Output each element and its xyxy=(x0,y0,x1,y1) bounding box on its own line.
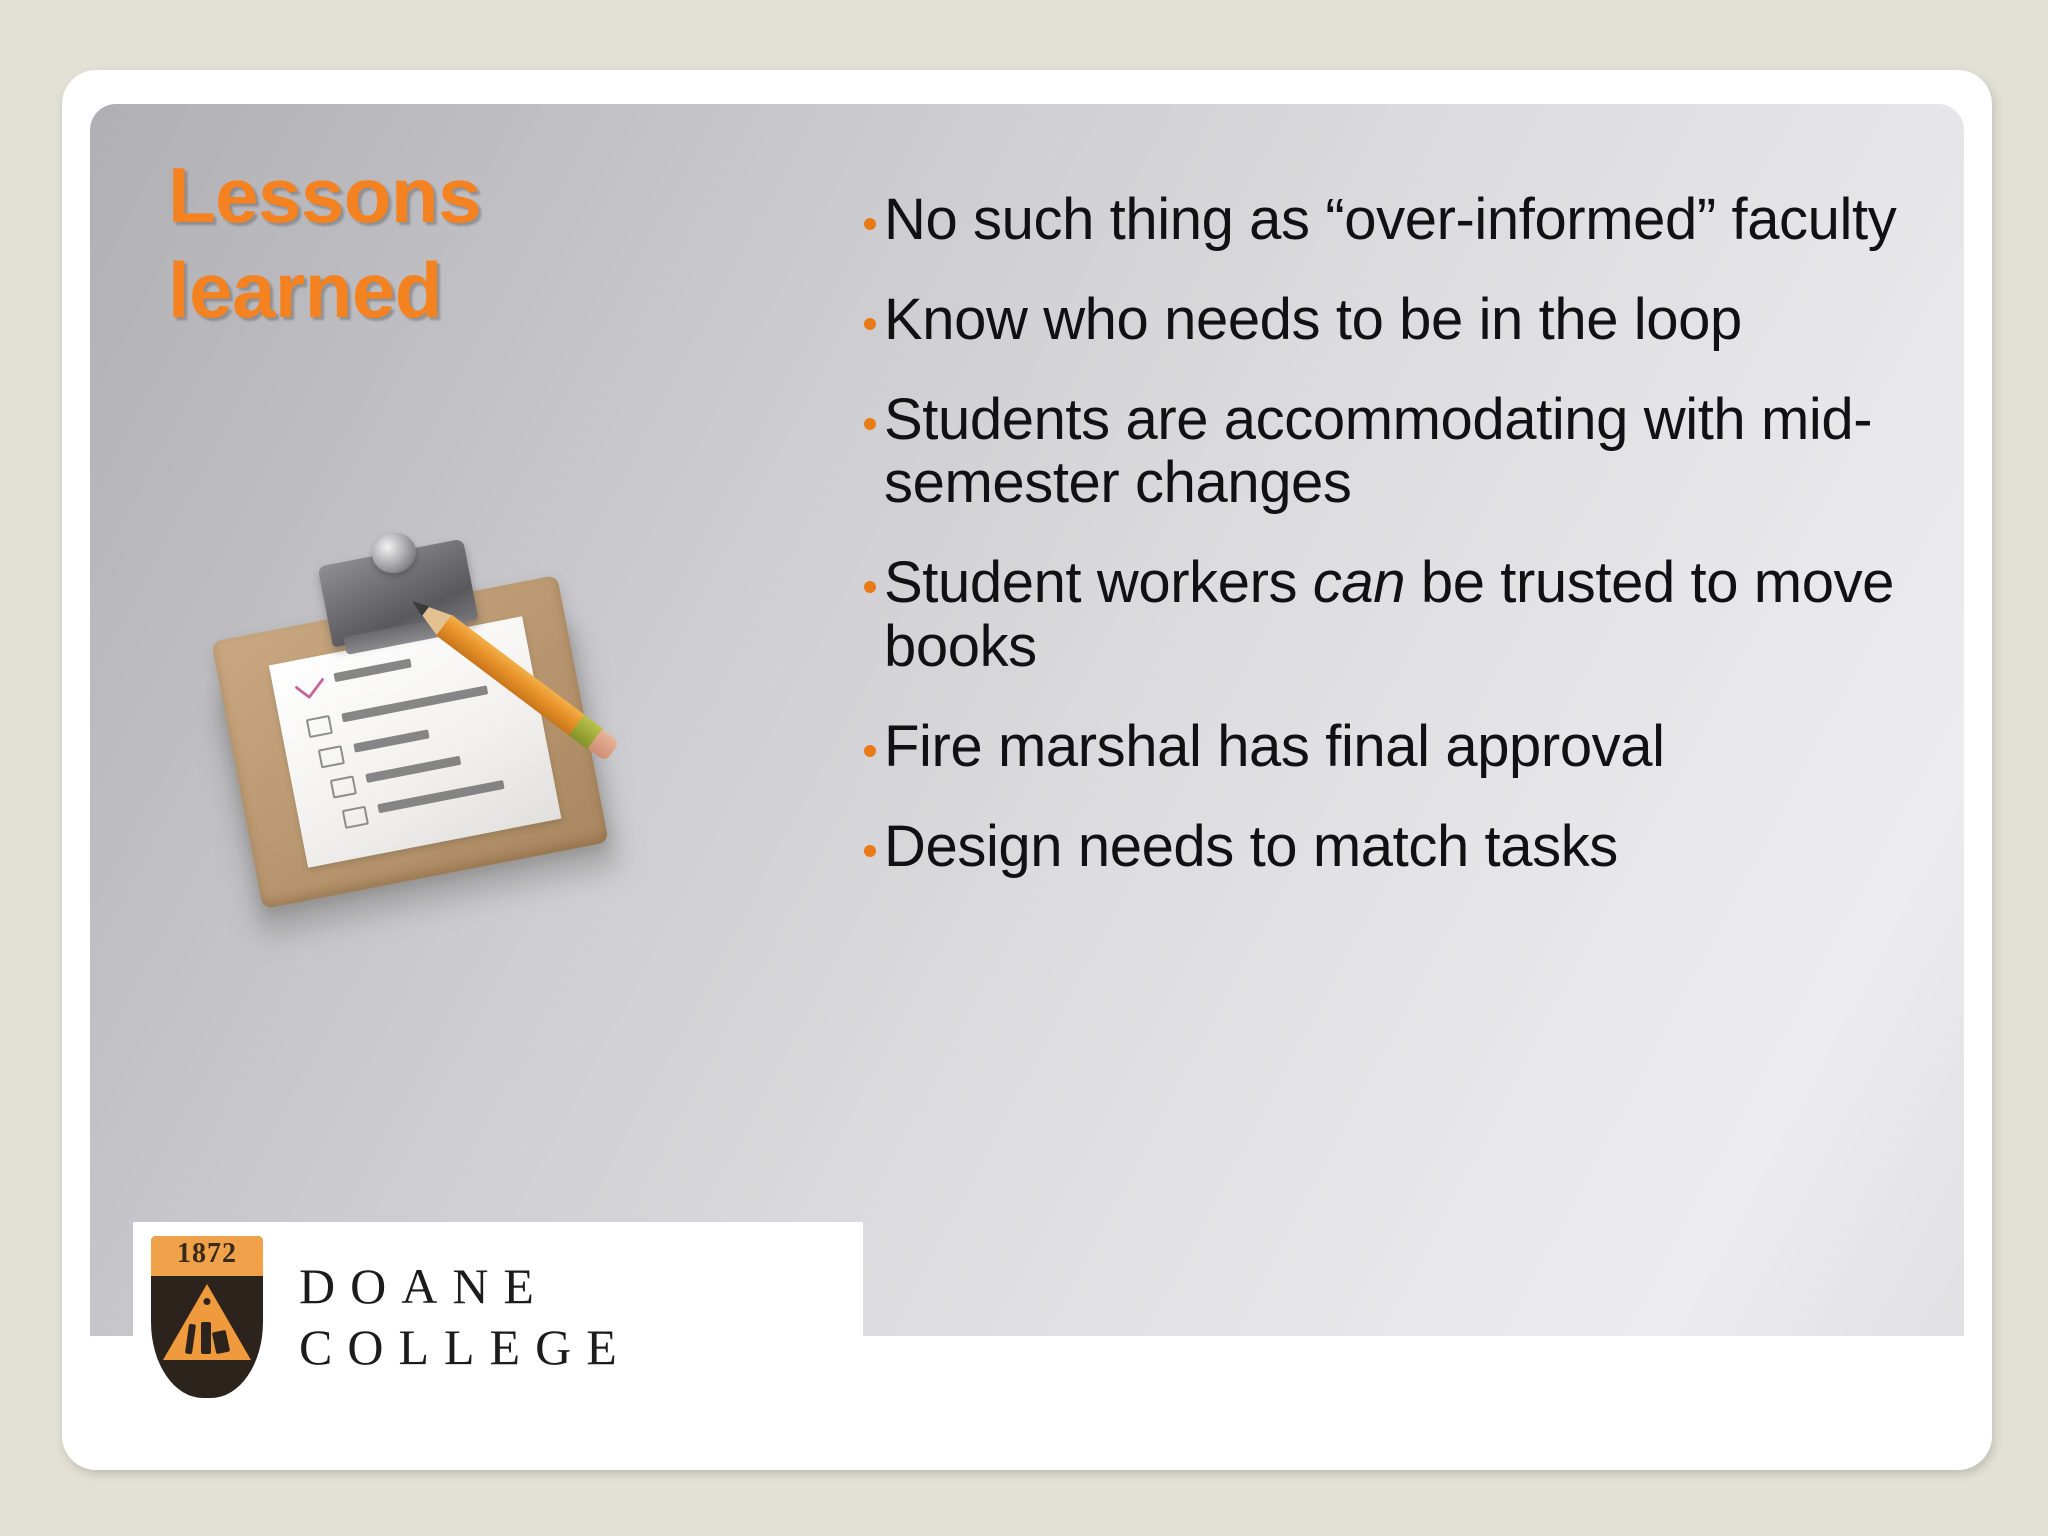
bullet-text-2: Know who needs to be in the loop xyxy=(884,287,1742,352)
bullet-text-1: No such thing as “over-informed” faculty xyxy=(884,187,1896,252)
clipboard-illustration xyxy=(196,528,696,968)
bullet-item-6: Design needs to match tasks xyxy=(862,815,1952,879)
checkbox-icon xyxy=(330,775,357,798)
bullet-dot-icon xyxy=(864,581,876,593)
checklist-line xyxy=(365,756,461,783)
figure-part xyxy=(201,1322,211,1354)
page-title: Lessons learned xyxy=(168,148,688,338)
checkbox-icon xyxy=(318,745,345,768)
bullet-dot-icon xyxy=(864,418,876,430)
bullet-dot-icon xyxy=(864,318,876,330)
figure-part xyxy=(212,1330,230,1354)
logo-word-doane: DOANE xyxy=(299,1256,632,1317)
shield-figure xyxy=(181,1322,233,1358)
logo-word-college: COLLEGE xyxy=(299,1317,632,1378)
shield-dot xyxy=(204,1298,211,1305)
title-line-1: Lessons xyxy=(168,148,688,243)
checkbox-icon xyxy=(306,715,333,738)
shield-icon: 1872 xyxy=(151,1236,263,1398)
checklist-line xyxy=(333,658,411,682)
bullet-item-4: Student workers can be trusted to move b… xyxy=(862,551,1952,679)
logo-inner: 1872 DOANE COLLEGE xyxy=(133,1222,863,1412)
bullet-item-1: No such thing as “over-informed” faculty xyxy=(862,188,1952,252)
slide-stage: Lessons learned No such thing as “over-i… xyxy=(0,0,2048,1536)
bullet-dot-icon xyxy=(864,745,876,757)
bullet-item-3: Students are accommodating with mid-seme… xyxy=(862,388,1952,516)
doane-college-logo: 1872 DOANE COLLEGE xyxy=(133,1222,863,1412)
bullet-dot-icon xyxy=(864,845,876,857)
bullet-text-3: Students are accommodating with mid-seme… xyxy=(884,387,1872,516)
bullet-dot-icon xyxy=(864,218,876,230)
bullet-item-5: Fire marshal has final approval xyxy=(862,715,1952,779)
figure-part xyxy=(185,1324,196,1355)
bullet-item-2: Know who needs to be in the loop xyxy=(862,288,1952,352)
clipboard-paper xyxy=(269,616,562,867)
shield-year-label: 1872 xyxy=(151,1238,263,1270)
checklist-line xyxy=(353,729,429,752)
checklist-line xyxy=(377,780,504,813)
bullet-list: No such thing as “over-informed” faculty… xyxy=(862,188,1952,914)
checkmark-icon xyxy=(294,668,324,699)
bullet-text-4-pre: Student workers xyxy=(884,550,1313,615)
bullet-text-5: Fire marshal has final approval xyxy=(884,714,1665,779)
checkbox-icon xyxy=(342,806,369,829)
logo-wordmark: DOANE COLLEGE xyxy=(299,1256,632,1378)
bullet-text-4-emphasis: can xyxy=(1313,550,1405,615)
title-line-2: learned xyxy=(168,243,688,338)
checklist-line xyxy=(341,685,488,722)
bullet-text-6: Design needs to match tasks xyxy=(884,814,1618,879)
